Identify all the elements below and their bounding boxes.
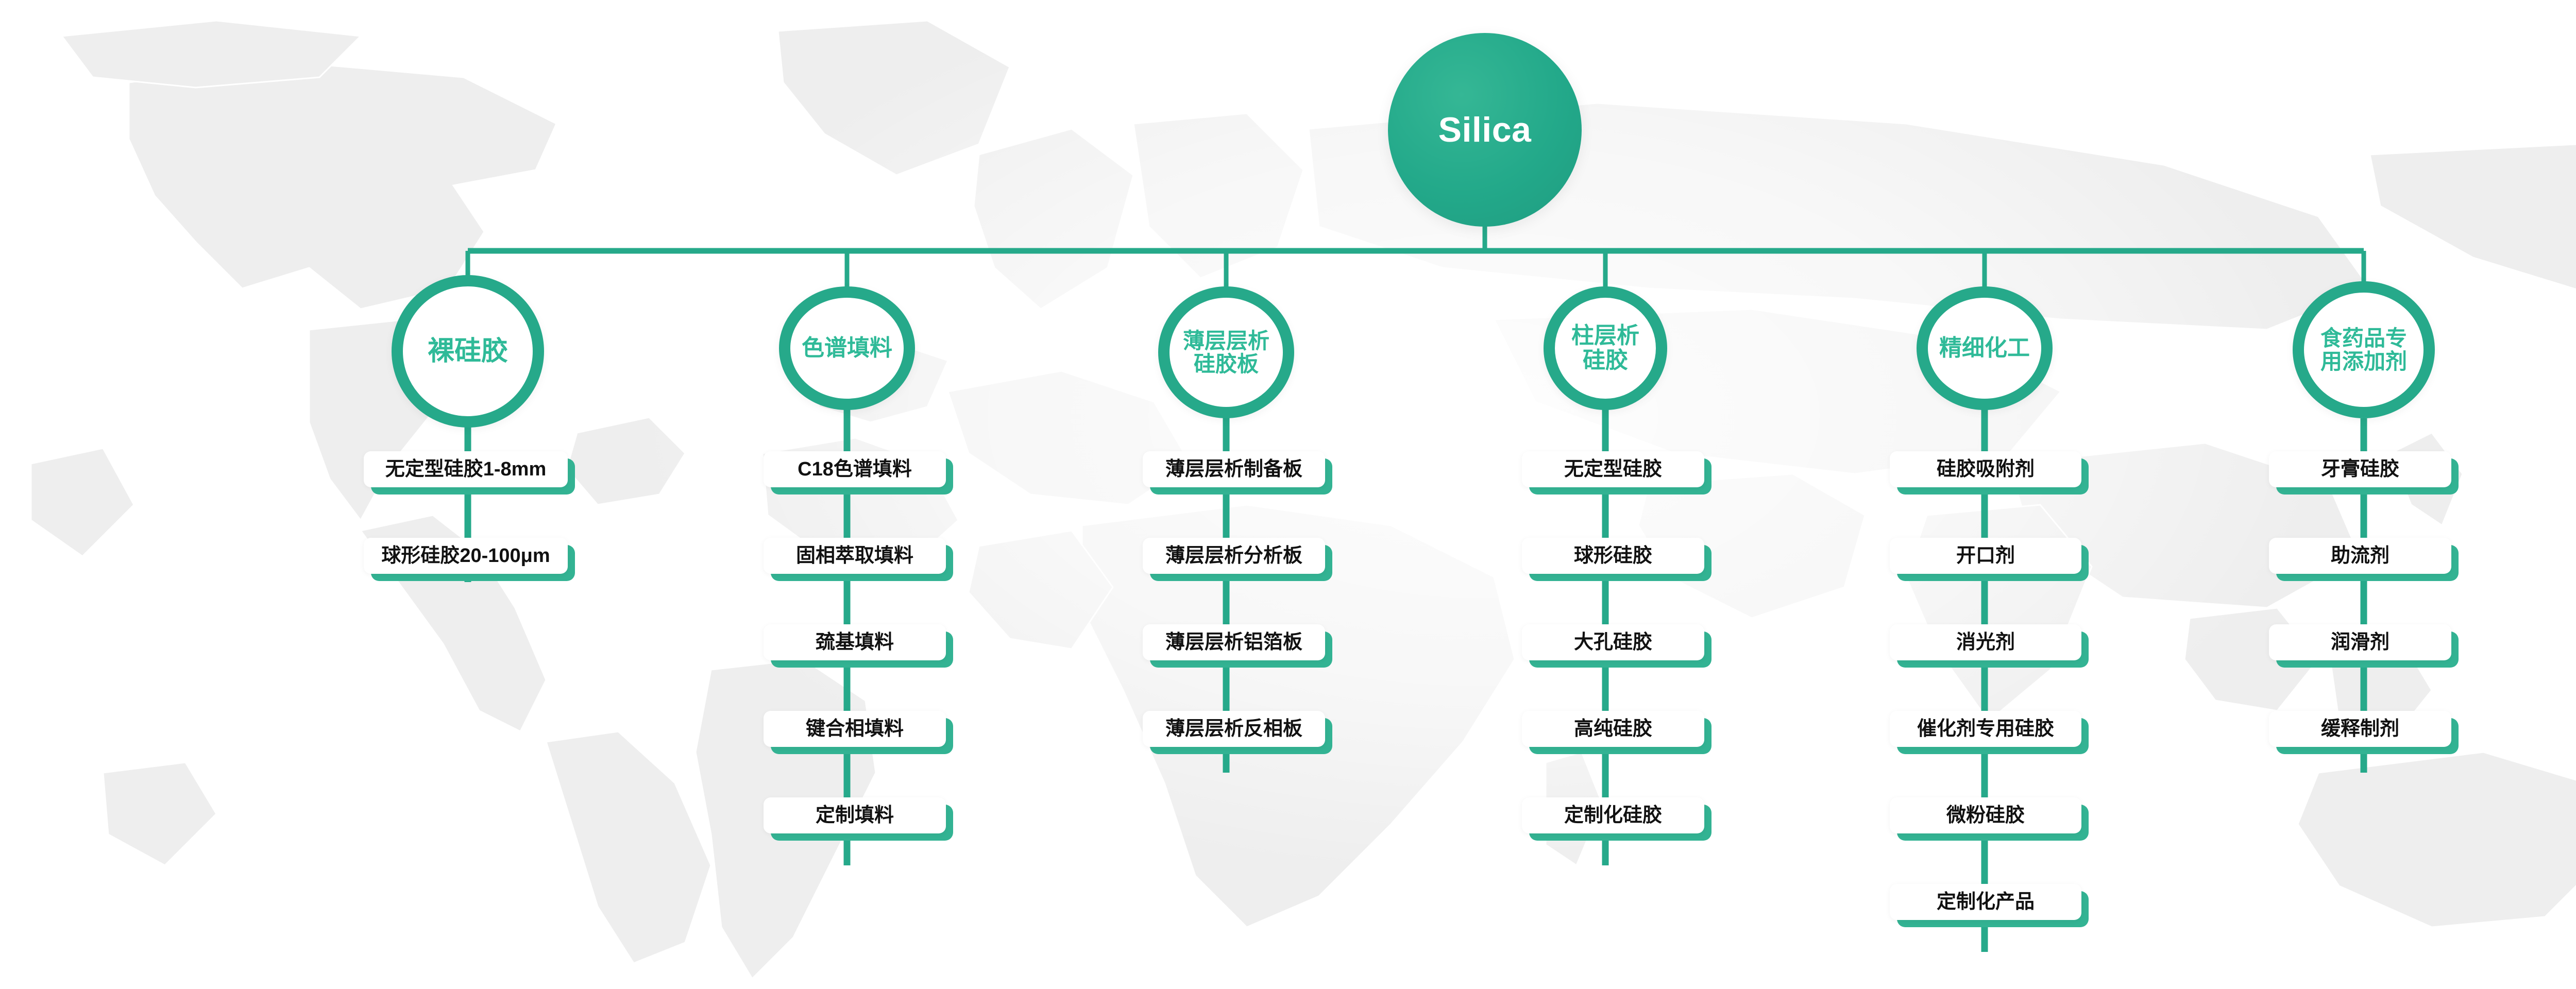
leaf-6-item-4[interactable]: 缓释制剂 — [2269, 711, 2459, 754]
leaf-6-4-label: 缓释制剂 — [2321, 719, 2399, 739]
leaf-6-2-face: 助流剂 — [2269, 538, 2451, 574]
branch-circle-6-label-line-1: 食药品专 — [2320, 327, 2407, 350]
leaf-6-3-face: 润滑剂 — [2269, 624, 2451, 660]
leaf-6-3-label: 润滑剂 — [2331, 633, 2389, 652]
branch-column-6: 食药品专 用添加剂 牙膏硅胶 助流剂 润滑剂 缓释 — [0, 0, 2576, 989]
leaf-6-item-3[interactable]: 润滑剂 — [2269, 624, 2459, 668]
leaf-6-1-label: 牙膏硅胶 — [2321, 459, 2399, 479]
diagram-canvas: Silica 裸硅胶 无定型硅胶1-8mm 球形硅胶20-100μm 色谱填料 … — [0, 0, 2576, 989]
leaf-6-4-face: 缓释制剂 — [2269, 711, 2451, 747]
branch-circle-6[interactable]: 食药品专 用添加剂 — [2293, 281, 2435, 418]
leaf-6-item-1[interactable]: 牙膏硅胶 — [2269, 451, 2459, 494]
leaf-6-item-2[interactable]: 助流剂 — [2269, 538, 2459, 581]
branch-circle-6-label: 食药品专 用添加剂 — [2317, 327, 2410, 373]
leaf-6-1-face: 牙膏硅胶 — [2269, 451, 2451, 487]
leaf-6-2-label: 助流剂 — [2331, 546, 2389, 566]
branch-circle-6-label-line-2: 用添加剂 — [2320, 350, 2407, 373]
